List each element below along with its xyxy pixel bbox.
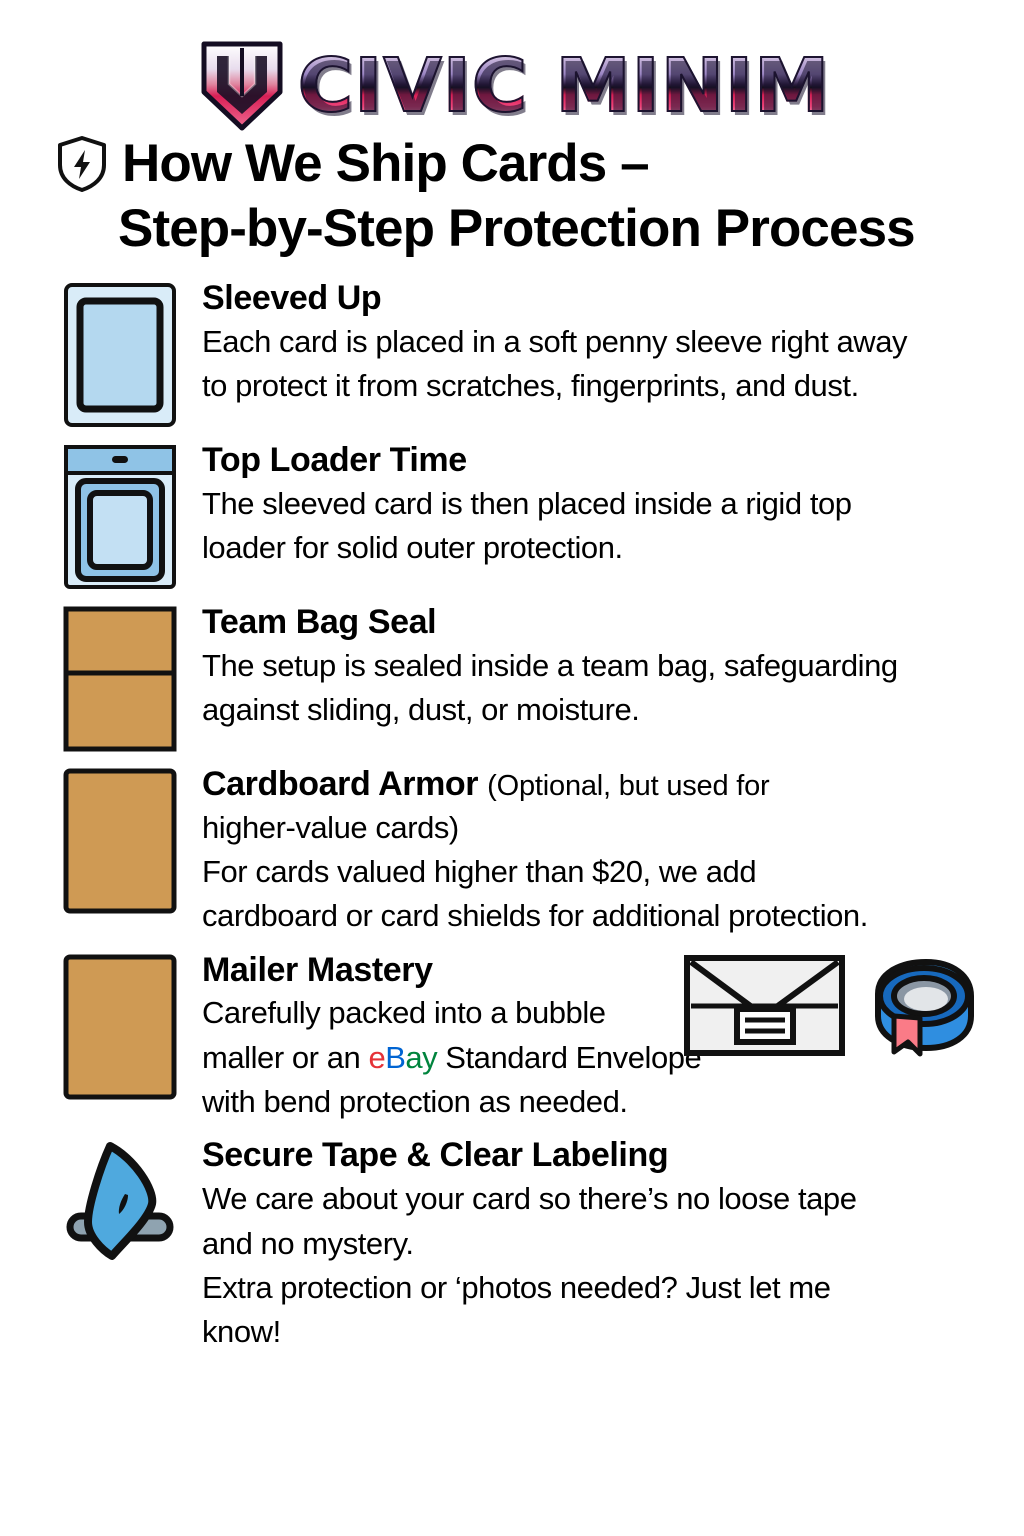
- title-line-2: Step-by-Step Protection Process: [34, 199, 990, 260]
- step-mailer-mastery: Mailer Mastery Carefully packed into a b…: [62, 950, 1006, 1125]
- step-text-line: with bend protection as needed.: [202, 1080, 822, 1124]
- step-icon-wrap: [62, 950, 180, 1101]
- step-top-loader-time: Top Loader Time The sleeved card is then…: [62, 440, 1006, 591]
- step-body: Team Bag Seal The setup is sealed inside…: [202, 602, 1006, 732]
- envelope-icon: [683, 954, 846, 1057]
- step-sleeved-up: Sleeved Up Each card is placed in a soft…: [62, 278, 1006, 429]
- bubble-mailer-icon: [62, 953, 178, 1101]
- step-heading: Team Bag Seal: [202, 602, 1006, 643]
- step-heading: Top Loader Time: [202, 440, 1006, 481]
- step-text: The sleeved card is then placed inside a…: [202, 482, 1006, 571]
- step-icon-wrap: [62, 602, 180, 753]
- step-secure-tape-clear-labeling: Secure Tape & Clear Labeling We care abo…: [62, 1135, 1006, 1354]
- step-heading-qualifier: (Optional, but used for: [487, 770, 769, 802]
- step-text-line: Extra protection or ‘photos needed? Just…: [202, 1266, 1006, 1310]
- step-team-bag-seal: Team Bag Seal The setup is sealed inside…: [62, 602, 1006, 753]
- step-text-line: higher-value cards): [202, 806, 1006, 850]
- step-heading-main: Cardboard Armor: [202, 765, 478, 803]
- step-text: We care about your card so there’s no lo…: [202, 1177, 1006, 1354]
- steps-list: Sleeved Up Each card is placed in a soft…: [0, 260, 1024, 1355]
- step-icon-wrap: [62, 764, 180, 915]
- step-text-line: We care about your card so there’s no lo…: [202, 1177, 1006, 1221]
- step-text-line: to protect it from scratches, fingerprin…: [202, 364, 1006, 408]
- step-text-line: For cards valued higher than $20, we add: [202, 850, 1006, 894]
- step-cardboard-armor: Cardboard Armor (Optional, but used for …: [62, 764, 1006, 939]
- step-text-line: loader for solid outer protection.: [202, 526, 1006, 570]
- top-loader-icon: [62, 443, 178, 591]
- pen-nib-icon: [62, 1138, 178, 1266]
- team-bag-icon: [62, 605, 178, 753]
- page-title: How We Ship Cards – Step-by-Step Protect…: [0, 128, 1024, 260]
- cardboard-armor-icon: [62, 767, 178, 915]
- step-text-line: The sleeved card is then placed inside a…: [202, 482, 1006, 526]
- step-text-line: Each card is placed in a soft penny slee…: [202, 320, 1006, 364]
- penny-sleeve-card-icon: [62, 281, 178, 429]
- step-text-line: and no mystery.: [202, 1222, 1006, 1266]
- step-icon-wrap: [62, 1135, 180, 1266]
- step-text-line: The setup is sealed inside a team bag, s…: [202, 644, 1006, 688]
- brand-wordmark: CIVIC MINIM: [298, 49, 830, 123]
- title-line-1: How We Ship Cards –: [122, 134, 649, 195]
- shield-m-monogram-icon: [199, 40, 285, 132]
- step-heading: Cardboard Armor (Optional, but used for: [202, 764, 1006, 805]
- step-text: The setup is sealed inside a team bag, s…: [202, 644, 1006, 733]
- step-text-line: know!: [202, 1310, 1006, 1354]
- ebay-logo-text: eBay: [368, 1040, 437, 1075]
- mailer-extra-icons: [683, 954, 978, 1066]
- brand-header: CIVIC MINIM: [0, 0, 1024, 128]
- step-icon-wrap: [62, 440, 180, 591]
- step-text: higher-value cards) For cards valued hig…: [202, 806, 1006, 939]
- step-text-line: cardboard or card shields for additional…: [202, 894, 1006, 938]
- tape-roll-icon: [868, 954, 978, 1066]
- step-icon-wrap: [62, 278, 180, 429]
- step-text: Each card is placed in a soft penny slee…: [202, 320, 1006, 409]
- step-body: Sleeved Up Each card is placed in a soft…: [202, 278, 1006, 408]
- step-body: Cardboard Armor (Optional, but used for …: [202, 764, 1006, 939]
- shield-bolt-icon: [56, 135, 108, 193]
- step-heading: Secure Tape & Clear Labeling: [202, 1135, 1006, 1176]
- step-body: Secure Tape & Clear Labeling We care abo…: [202, 1135, 1006, 1354]
- step-heading: Sleeved Up: [202, 278, 1006, 319]
- step-text-line: against sliding, dust, or moisture.: [202, 688, 1006, 732]
- step-body: Top Loader Time The sleeved card is then…: [202, 440, 1006, 570]
